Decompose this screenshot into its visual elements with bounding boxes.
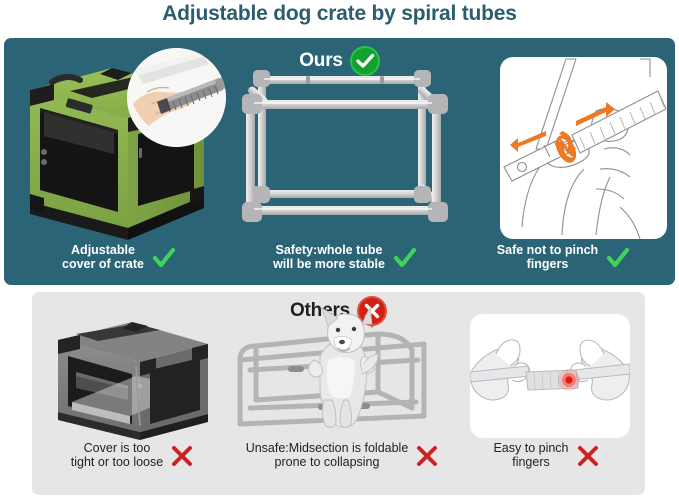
ours-caption-1: Adjustable cover of crate [8, 244, 230, 271]
caption-text: Safety:whole tube will be more stable [273, 244, 385, 271]
check-icon [152, 247, 176, 269]
others-item-1 [36, 314, 228, 444]
hand-holding-spiral-tube-inset [127, 48, 226, 147]
ours-item-3 [456, 52, 671, 248]
caption-text: Easy to pinch fingers [493, 442, 568, 469]
caption-text: Safe not to pinch fingers [497, 244, 598, 271]
ours-panel: Ours [4, 38, 675, 285]
check-icon [393, 247, 417, 269]
others-item-2 [228, 304, 456, 446]
x-icon [577, 445, 599, 467]
others-caption-3: Easy to pinch fingers [450, 442, 642, 469]
others-caption-1: Cover is too tight or too loose [36, 442, 228, 469]
others-caption-2: Unsafe:Midsection is foldable prone to c… [218, 442, 466, 469]
ours-caption-3: Safe not to pinch fingers [456, 244, 671, 271]
ours-item-1 [8, 44, 230, 249]
page-title: Adjustable dog crate by spiral tubes [0, 2, 679, 26]
ours-caption-2: Safety:whole tube will be more stable [240, 244, 450, 271]
others-item-3 [456, 314, 642, 442]
whole-tube-frame-diagram [240, 60, 450, 250]
check-icon [606, 247, 630, 269]
caption-text: Adjustable cover of crate [62, 244, 144, 271]
caption-text: Cover is too tight or too loose [71, 442, 163, 469]
caption-text: Unsafe:Midsection is foldable prone to c… [246, 442, 409, 469]
infographic-page: Adjustable dog crate by spiral tubes Our… [0, 0, 679, 503]
hands-pinched-by-tube-lineart [470, 314, 630, 438]
hands-adjusting-spiral-tube-lineart [500, 57, 667, 239]
x-icon [171, 445, 193, 467]
dog-in-foldable-frame-photo [228, 304, 456, 446]
gray-soft-dog-crate-photo [36, 314, 228, 444]
x-icon [416, 445, 438, 467]
ours-item-2 [240, 60, 450, 250]
others-panel: Others [32, 292, 645, 495]
